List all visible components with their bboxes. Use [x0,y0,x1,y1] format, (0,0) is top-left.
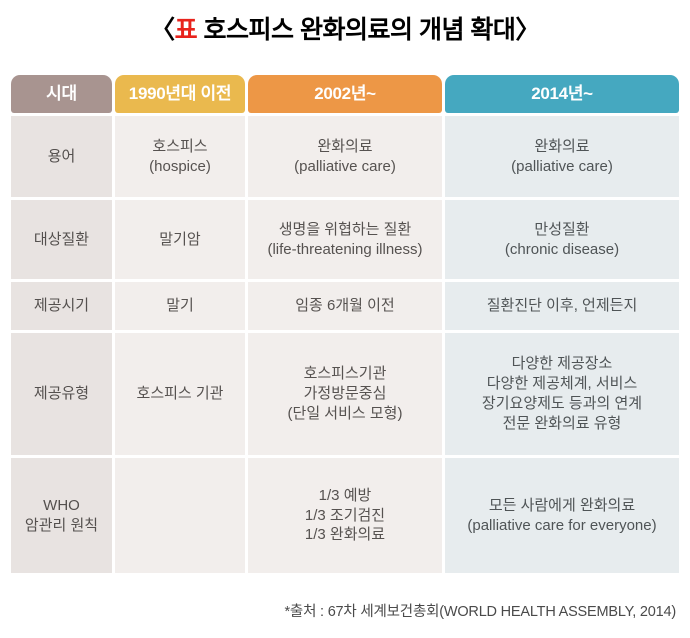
cell-terminology-2014: 완화의료 (palliative care) [445,116,679,197]
cell-service-type-2002: 호스피스기관 가정방문중심 (단일 서비스 모형) [248,333,442,455]
row-label-service-type: 제공유형 [11,333,112,455]
column-header-2002: 2002년~ [248,75,442,113]
row-label-who-principle: WHO 암관리 원칙 [11,458,112,573]
cell-who-principle-pre1990s [115,458,245,573]
cell-service-type-2014: 다양한 제공장소 다양한 제공체계, 서비스 장기요양제도 등과의 연계 전문 … [445,333,679,455]
column-header-era: 시대 [11,75,112,113]
table-row: 용어 호스피스 (hospice) 완화의료 (palliative care)… [11,116,676,197]
cell-timing-2014: 질환진단 이후, 언제든지 [445,282,679,330]
cell-terminology-2002: 완화의료 (palliative care) [248,116,442,197]
infographic-table-page: 〈표 호스피스 완화의료의 개념 확대〉 시대 1990년대 이전 2002년~… [0,0,690,638]
table-row: 대상질환 말기암 생명을 위협하는 질환 (life-threatening i… [11,200,676,279]
cell-who-principle-2002: 1/3 예방 1/3 조기검진 1/3 완화의료 [248,458,442,573]
table-header-row: 시대 1990년대 이전 2002년~ 2014년~ [11,75,676,113]
title-open-bracket: 〈 [150,16,175,44]
cell-service-type-pre1990s: 호스피스 기관 [115,333,245,455]
cell-target-disease-pre1990s: 말기암 [115,200,245,279]
row-label-terminology: 용어 [11,116,112,197]
table-row: 제공시기 말기 임종 6개월 이전 질환진단 이후, 언제든지 [11,282,676,330]
table-row: 제공유형 호스피스 기관 호스피스기관 가정방문중심 (단일 서비스 모형) 다… [11,333,676,455]
cell-timing-2002: 임종 6개월 이전 [248,282,442,330]
source-note: *출처 : 67차 세계보건총회(WORLD HEALTH ASSEMBLY, … [284,600,676,621]
comparison-table: 시대 1990년대 이전 2002년~ 2014년~ 용어 호스피스 (hosp… [11,75,676,573]
cell-target-disease-2002: 생명을 위협하는 질환 (life-threatening illness) [248,200,442,279]
title-marker: 표 [175,16,198,44]
row-label-timing: 제공시기 [11,282,112,330]
cell-timing-pre1990s: 말기 [115,282,245,330]
cell-who-principle-2014: 모든 사람에게 완화의료 (palliative care for everyo… [445,458,679,573]
column-header-pre-1990s: 1990년대 이전 [115,75,245,113]
column-header-2014: 2014년~ [445,75,679,113]
row-label-target-disease: 대상질환 [11,200,112,279]
title-text: 호스피스 완화의료의 개념 확대 [197,16,515,44]
page-title: 〈표 호스피스 완화의료의 개념 확대〉 [0,0,690,49]
title-close-bracket: 〉 [515,16,540,44]
table-row: WHO 암관리 원칙 1/3 예방 1/3 조기검진 1/3 완화의료 모든 사… [11,458,676,573]
cell-target-disease-2014: 만성질환 (chronic disease) [445,200,679,279]
cell-terminology-pre1990s: 호스피스 (hospice) [115,116,245,197]
